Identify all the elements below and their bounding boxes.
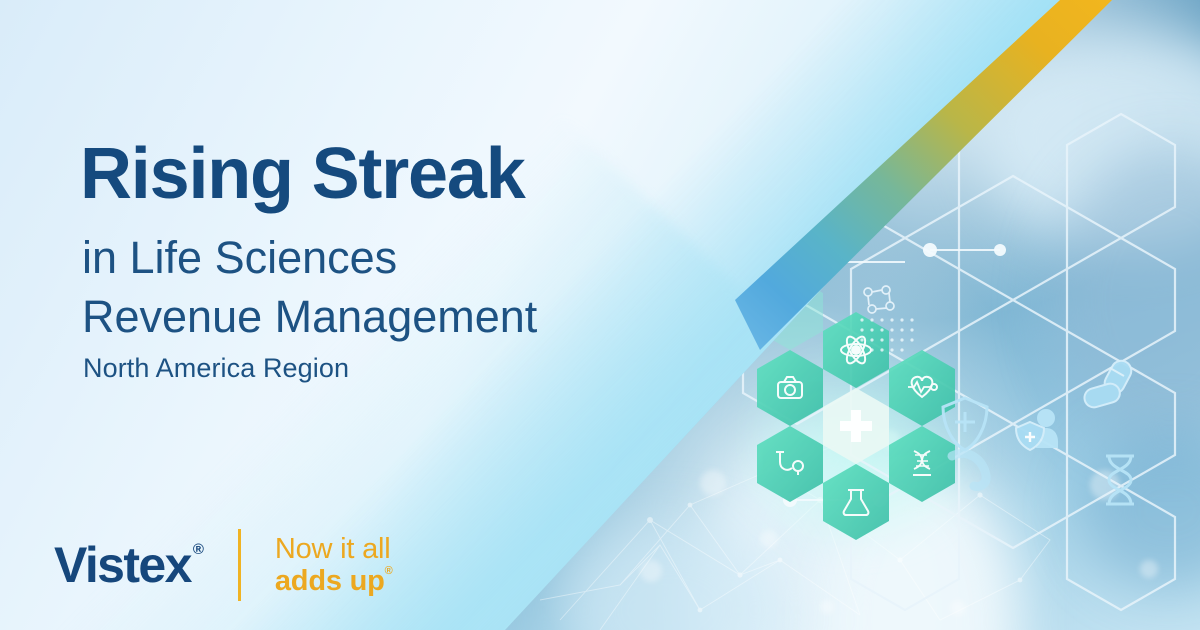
pills-icon [1082, 357, 1135, 409]
marketing-banner: Rising Streak in Life Sciences Revenue M… [0, 0, 1200, 630]
registered-trademark-icon: ® [193, 541, 204, 558]
vistex-wordmark[interactable]: Vistex® [54, 540, 202, 590]
vistex-wordmark-text: Vistex [54, 537, 191, 593]
subtitle-line-1: in Life Sciences [82, 228, 537, 287]
tagline-line-1: Now it all [275, 533, 393, 565]
subtitle: in Life Sciences Revenue Management [82, 228, 537, 347]
tagline-line-2: adds up® [275, 565, 393, 597]
subtitle-line-2: Revenue Management [82, 287, 537, 346]
tagline-line-2-text: adds up [275, 565, 385, 597]
logo-divider [238, 529, 241, 601]
vistex-tagline: Now it all adds up® [275, 533, 393, 598]
patient-shield-icon [1016, 409, 1058, 450]
page-title: Rising Streak [80, 138, 525, 210]
hourglass-icon [1106, 456, 1134, 504]
registered-trademark-icon: ® [385, 565, 393, 577]
vistex-logo-lockup[interactable]: Vistex® Now it all adds up® [54, 528, 393, 602]
handset-icon [952, 453, 986, 486]
region-label: North America Region [83, 353, 349, 384]
